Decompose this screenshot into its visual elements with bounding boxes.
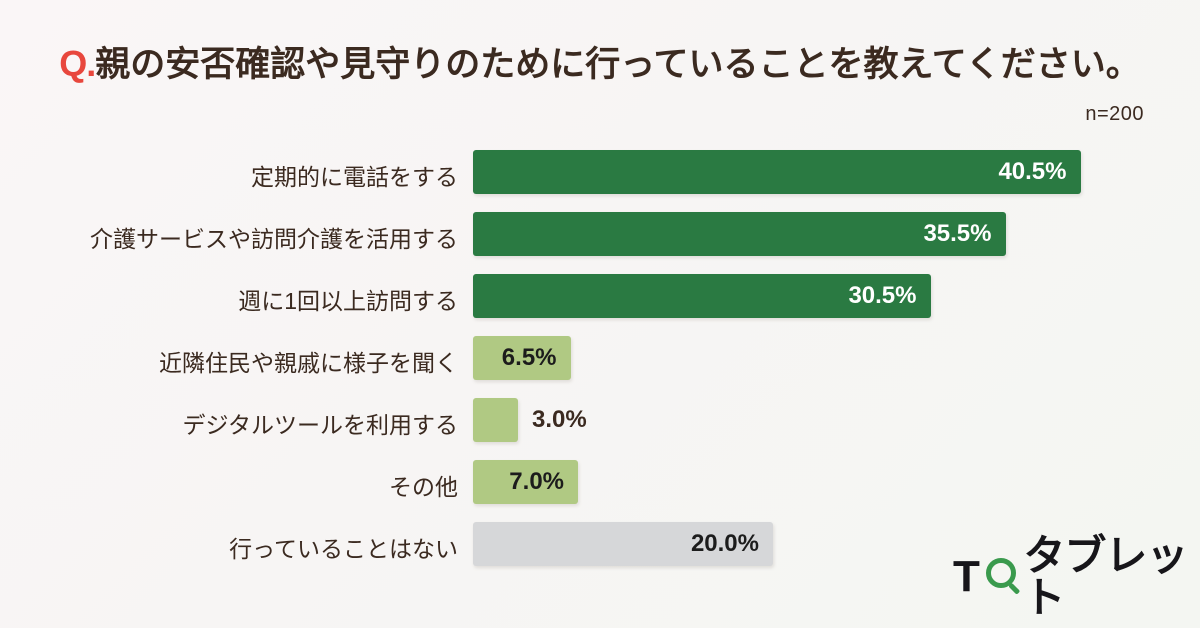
brand-logo: T タブレット <box>953 552 1200 602</box>
bar-value-label: 6.5% <box>502 344 557 372</box>
bar: 6.5% <box>473 336 571 380</box>
bar: 30.5% <box>473 274 931 318</box>
bar-row: 近隣住民や親戚に様子を聞く6.5% <box>0 336 1200 398</box>
logo-letter-t: T <box>953 555 978 599</box>
bar-category-label: 介護サービスや訪問介護を活用する <box>38 220 458 254</box>
question-prefix: Q. <box>59 43 95 84</box>
chart-page: Q.親の安否確認や見守りのために行っていることを教えてください。 n=200 定… <box>0 0 1200 628</box>
bar: 20.0% <box>473 522 773 566</box>
bar-category-label: 週に1回以上訪問する <box>38 282 458 316</box>
sample-size-label: n=200 <box>1085 103 1144 126</box>
bar: 40.5% <box>473 150 1081 194</box>
question-text: 親の安否確認や見守りのために行っていることを教えてください。 <box>95 45 1140 84</box>
bar-category-label: 近隣住民や親戚に様子を聞く <box>38 344 458 378</box>
logo-wordmark: タブレット <box>1023 535 1200 619</box>
bar-row: 定期的に電話をする40.5% <box>0 150 1200 212</box>
page-title: Q.親の安否確認や見守りのために行っていることを教えてください。 <box>0 36 1200 87</box>
bar-row: その他7.0% <box>0 460 1200 522</box>
bar-value-label: 35.5% <box>923 220 991 248</box>
magnifier-q-icon <box>984 557 1018 597</box>
bar-category-label: デジタルツールを利用する <box>38 406 458 440</box>
bar-value-label: 30.5% <box>848 282 916 310</box>
bar-value-label: 7.0% <box>509 468 564 496</box>
bar-row: デジタルツールを利用する3.0% <box>0 398 1200 460</box>
bar-row: 介護サービスや訪問介護を活用する35.5% <box>0 212 1200 274</box>
bar: 7.0% <box>473 460 578 504</box>
bar-value-label: 3.0% <box>532 406 587 434</box>
bar-row: 週に1回以上訪問する30.5% <box>0 274 1200 336</box>
bar-value-label: 20.0% <box>691 530 759 558</box>
bar <box>473 398 518 442</box>
bar: 35.5% <box>473 212 1006 256</box>
bar-category-label: 行っていることはない <box>38 530 458 564</box>
bar-category-label: 定期的に電話をする <box>38 158 458 192</box>
bar-category-label: その他 <box>38 468 458 502</box>
bar-value-label: 40.5% <box>998 158 1066 186</box>
bar-chart: 定期的に電話をする40.5%介護サービスや訪問介護を活用する35.5%週に1回以… <box>0 150 1200 584</box>
